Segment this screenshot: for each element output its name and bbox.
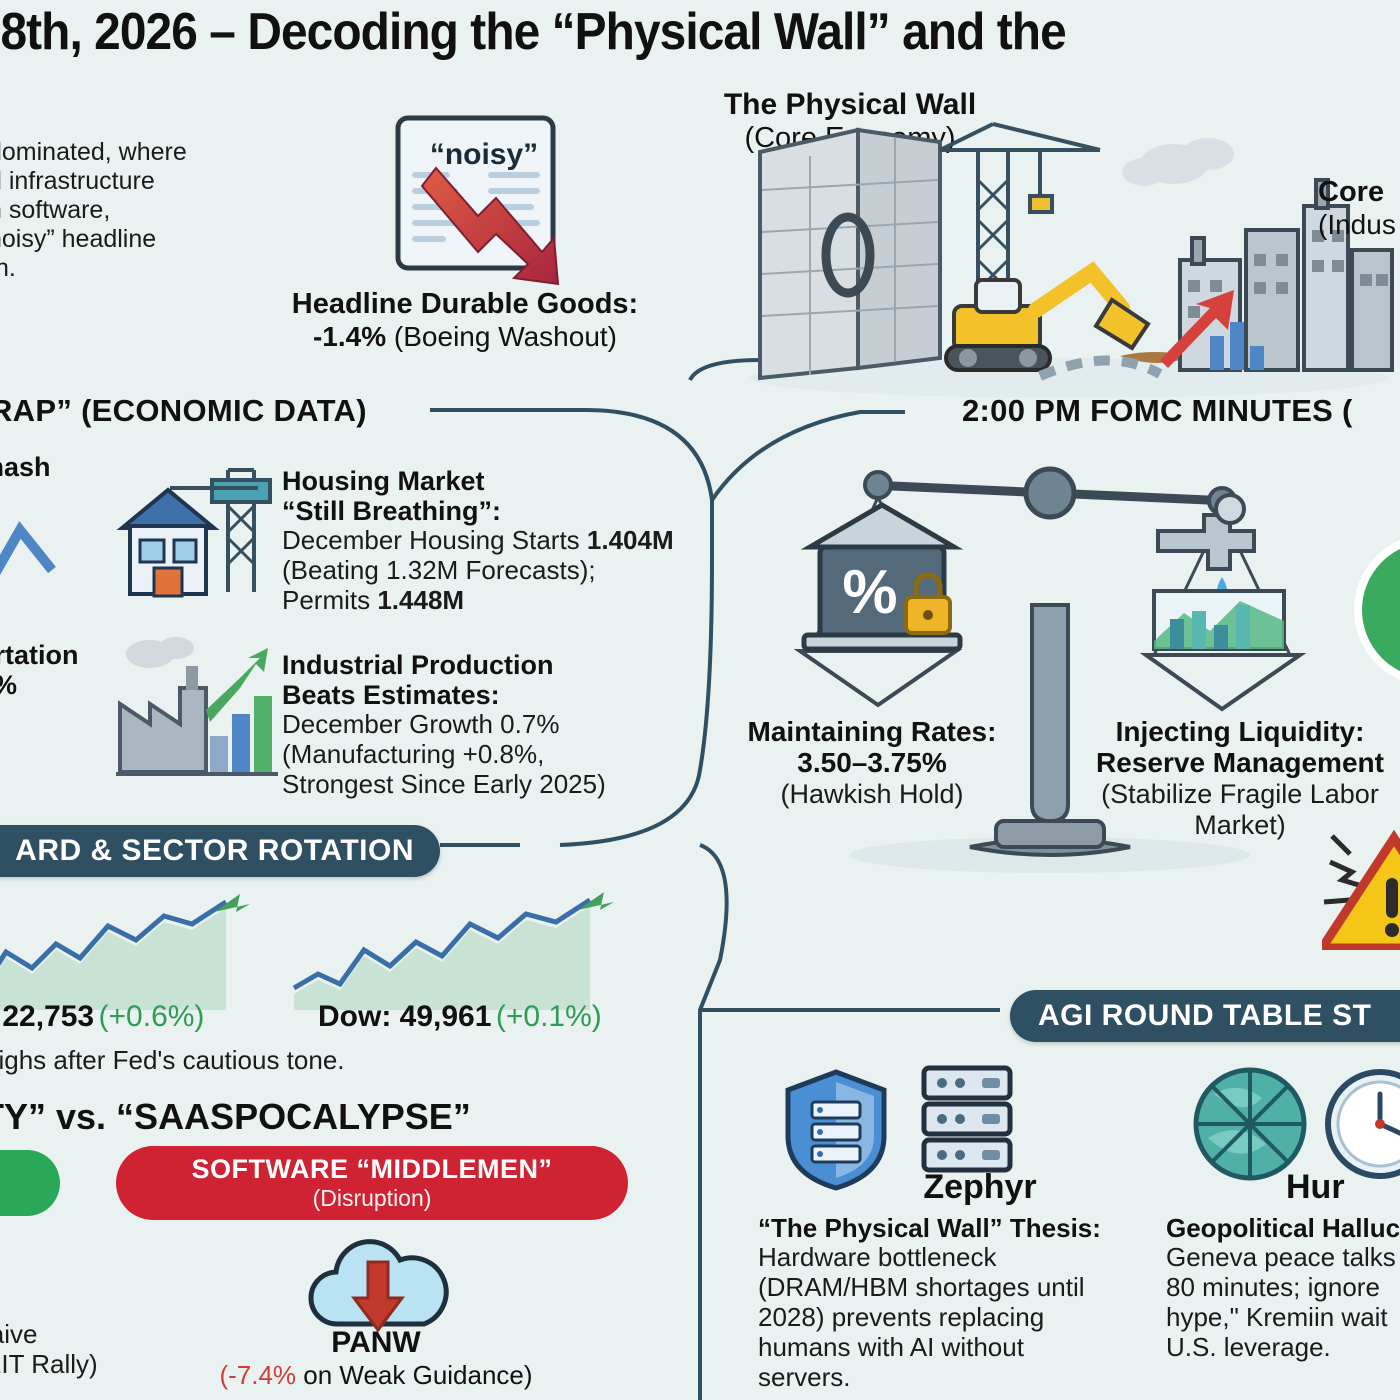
pill-software-middlemen: SOFTWARE “MIDDLEMEN” (Disruption) [116,1146,628,1220]
housing-title-1: Housing Market [282,466,682,496]
faucet-liquidity-chart-icon [1154,495,1284,649]
industrial-body-2: (Manufacturing +0.8%, [282,740,682,770]
housing-body-2: (Beating 1.32M Forecasts); [282,556,682,586]
housing-block: Housing Market “Still Breathing”: Decemb… [282,466,682,616]
zephyr-body-4: humans with AI without [758,1333,1128,1363]
intro-line-1: dominated, where [0,138,278,167]
rotation-left-note-1: iaive [0,1320,98,1350]
fomc-left-caption: Maintaining Rates: 3.50–3.75% (Hawkish H… [742,716,1002,810]
durable-goods-caption: Headline Durable Goods: -1.4% (Boeing Wa… [250,288,680,354]
clipped-sub-2: 9% [0,670,118,700]
zephyr-thesis: “The Physical Wall” Thesis: Hardware bot… [758,1214,1128,1393]
pill-red-label: SOFTWARE “MIDDLEMEN” [192,1154,553,1185]
scoreboard-note: highs after Fed's cautious tone. [0,1046,345,1076]
warning-triangle-icon [1322,820,1400,950]
rotation-left-notes: iaive EIT Rally) [0,1320,98,1380]
core-label-sub: (Indus [1318,209,1396,241]
clipped-chart-icon [0,490,80,610]
core-label: Core (Indus [1318,176,1396,241]
economic-item-clipped: mash [0,452,110,482]
panw-change-rest: on Weak Guidance) [296,1360,533,1390]
panw-caption: PANW (-7.4% on Weak Guidance) [216,1326,536,1391]
pill-hardware-winners: RS [0,1150,60,1216]
noisy-badge-text: “noisy” [430,138,538,171]
house-crane-icon [108,460,276,610]
band-economic-data: RAP” (ECONOMIC DATA) [0,393,367,429]
index-right-change: (+0.1%) [496,1000,602,1033]
hur-thesis-title: Geopolitical Halluc [1166,1214,1400,1243]
intro-paragraph: dominated, where d infrastructure n soft… [0,138,278,283]
band-fomc-minutes: 2:00 PM FOMC MINUTES ( [962,393,1353,429]
intro-line-5: th. [0,254,278,283]
intro-line-2: d infrastructure [0,167,278,196]
panw-ticker: PANW [216,1326,536,1360]
hur-body-4: U.S. leverage. [1166,1333,1400,1363]
permits-value: 1.448M [377,585,464,615]
clipped-sub-4: ) [0,754,118,784]
housing-title-2: “Still Breathing”: [282,496,682,526]
zephyr-body-5: servers. [758,1363,1128,1393]
band-agi-round-table: AGI ROUND TABLE ST [1010,990,1400,1042]
index-left-change: (+0.6%) [99,1000,205,1033]
hur-body-3: hype," Kremiin wait [1166,1303,1400,1333]
persona-name-hur: Hur [1286,1168,1400,1207]
svg-text:%: % [842,558,897,627]
line-chart-up-icon-left [0,890,300,1010]
clipped-sub-1: ortation [0,640,118,670]
noisy-news-card: “noisy” [392,112,570,292]
industrial-body-3: Strongest Since Early 2025) [282,770,682,800]
housing-body-3: Permits 1.448M [282,586,682,616]
durable-goods-title: Headline Durable Goods: [250,288,680,320]
hur-body-1: Geneva peace talks [1166,1243,1400,1273]
panw-change-row: (-7.4% on Weak Guidance) [216,1360,536,1391]
index-left-label: : 22,753 [0,1000,94,1033]
intro-line-4: noisy” headline [0,225,278,254]
housing-body-1: December Housing Starts 1.404M [282,526,682,556]
rotation-heading: TY” vs. “SAASPOCALYPSE” [0,1096,471,1138]
page-title: rt: Feb 18th, 2026 – Decoding the “Physi… [0,2,1400,62]
band-scoreboard: ARD & SECTOR ROTATION [0,825,440,877]
green-circle-icon [1352,530,1400,690]
server-rack-icon [912,1060,1022,1180]
construction-factory-wall-icon [740,110,1400,400]
injecting-liquidity-title-2: Reserve Management [1080,747,1400,778]
industrial-title-1: Industrial Production [282,650,682,680]
injecting-liquidity-note-1: (Stabilize Fragile Labor [1080,779,1400,810]
durable-goods-rest: (Boeing Washout) [386,321,617,352]
housing-body-1-pre: December Housing Starts [282,525,587,555]
durable-goods-value-row: -1.4% (Boeing Washout) [250,320,680,354]
permits-label: Permits [282,585,377,615]
core-label-bold: Core [1318,176,1396,209]
zephyr-body-1: Hardware bottleneck [758,1243,1128,1273]
injecting-liquidity-title-1: Injecting Liquidity: [1080,716,1400,747]
panw-change: (-7.4% [219,1360,296,1390]
infographic-canvas: rt: Feb 18th, 2026 – Decoding the “Physi… [0,0,1400,1400]
factory-bar-chart-icon [110,632,280,792]
index-left: : 22,753 (+0.6%) [0,1000,204,1034]
hur-thesis: Geopolitical Halluc Geneva peace talks 8… [1166,1214,1400,1363]
pill-red-sub: (Disruption) [313,1185,432,1212]
declining-chart-news-icon: “noisy” [392,112,570,292]
intro-line-3: n software, [0,196,278,225]
durable-goods-value: -1.4% [313,321,386,352]
maintaining-rates-title: Maintaining Rates: [742,716,1002,747]
zephyr-thesis-title: “The Physical Wall” Thesis: [758,1214,1128,1243]
industrial-body-1: December Growth 0.7% [282,710,682,740]
rotation-left-note-2: EIT Rally) [0,1350,98,1380]
industrial-block: Industrial Production Beats Estimates: D… [282,650,682,800]
clipped-sub-3: e [0,700,118,730]
zephyr-body-3: 2028) prevents replacing [758,1303,1128,1333]
hur-body-2: 80 minutes; ignore [1166,1273,1400,1303]
maintaining-rates-note: (Hawkish Hold) [742,779,1002,810]
industrial-title-2: Beats Estimates: [282,680,682,710]
index-right: Dow: 49,961 (+0.1%) [318,1000,602,1034]
housing-starts-value: 1.404M [587,525,674,555]
maintaining-rates-value: 3.50–3.75% [742,747,1002,778]
economic-item-clipped-2: ortation 9% e ) [0,640,118,784]
persona-name-zephyr: Zephyr [860,1168,1100,1207]
line-chart-up-icon-right [290,890,650,1010]
zephyr-body-2: (DRAM/HBM shortages until [758,1273,1128,1303]
clipped-title: mash [0,452,110,482]
index-right-label: Dow: 49,961 [318,1000,491,1033]
bank-percent-lock-icon: % [804,505,960,649]
